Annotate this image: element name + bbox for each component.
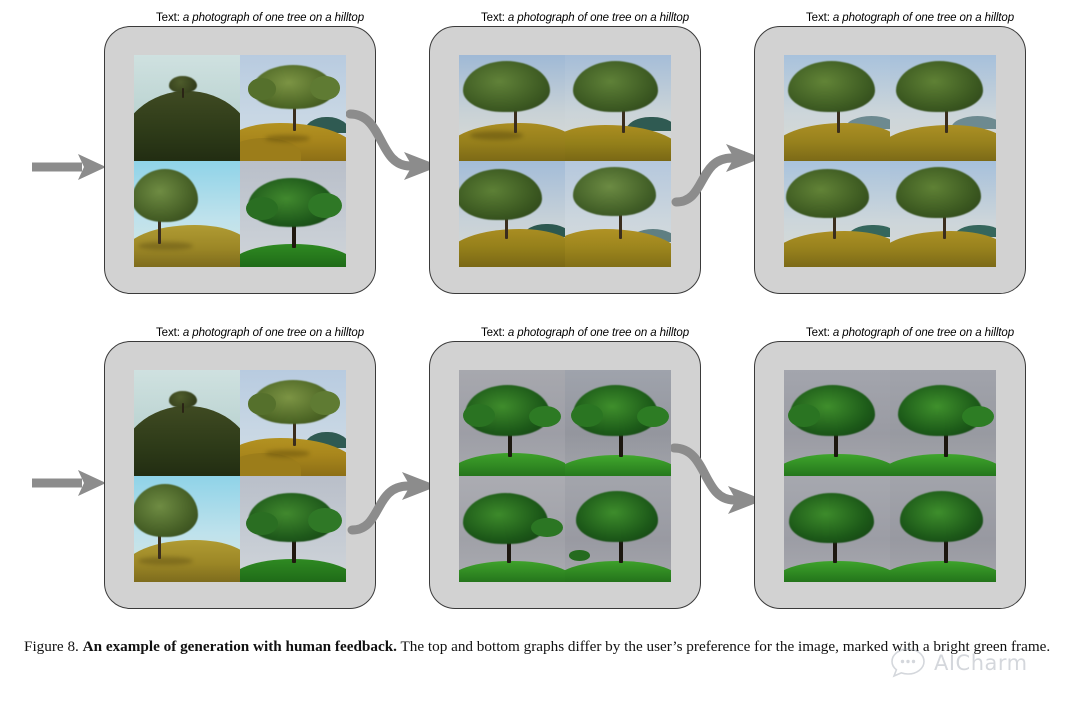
caption-prompt: a photograph of one tree on a hilltop xyxy=(508,12,689,24)
cell-br1-1[interactable] xyxy=(134,370,240,476)
image-grid-top-1 xyxy=(134,55,346,267)
figure-caption-bold: An example of generation with human feed… xyxy=(83,638,397,655)
caption-prompt: a photograph of one tree on a hilltop xyxy=(833,12,1014,24)
panel-caption-top-3: Text: a photograph of one tree on a hill… xyxy=(760,12,1060,25)
cell-br2-3[interactable] xyxy=(459,476,565,582)
cell-tr1-4[interactable] xyxy=(240,161,346,267)
cell-tr1-3[interactable] xyxy=(134,161,240,267)
panel-caption-bottom-1: Text: a photograph of one tree on a hill… xyxy=(110,327,410,340)
cell-tr2-3[interactable] xyxy=(459,161,565,267)
cell-br1-2[interactable] xyxy=(240,370,346,476)
panel-top-1[interactable] xyxy=(104,26,376,294)
panel-caption-bottom-3: Text: a photograph of one tree on a hill… xyxy=(760,327,1060,340)
image-grid-top-2 xyxy=(459,55,671,267)
cell-tr1-2[interactable] xyxy=(240,55,346,161)
caption-label: Text: xyxy=(481,12,505,24)
image-grid-top-3 xyxy=(784,55,996,267)
figure-caption-text: The top and bottom graphs differ by the … xyxy=(400,638,1050,655)
cell-tr3-3[interactable] xyxy=(784,161,890,267)
cell-tr2-1[interactable] xyxy=(459,55,565,161)
caption-label: Text: xyxy=(481,327,505,339)
figure-number: Figure 8. xyxy=(24,638,79,655)
panel-caption-top-2: Text: a photograph of one tree on a hill… xyxy=(435,12,735,25)
caption-label: Text: xyxy=(806,327,830,339)
caption-prompt: a photograph of one tree on a hilltop xyxy=(183,327,364,339)
cell-br3-1[interactable] xyxy=(784,370,890,476)
panel-caption-top-1: Text: a photograph of one tree on a hill… xyxy=(110,12,410,25)
caption-label: Text: xyxy=(806,12,830,24)
caption-prompt: a photograph of one tree on a hilltop xyxy=(508,327,689,339)
cell-tr2-4[interactable] xyxy=(565,161,671,267)
cell-tr1-1[interactable] xyxy=(134,55,240,161)
panel-bottom-3[interactable] xyxy=(754,341,1026,609)
image-grid-bottom-3 xyxy=(784,370,996,582)
cell-br2-1[interactable] xyxy=(459,370,565,476)
cell-br3-4[interactable] xyxy=(890,476,996,582)
panel-caption-bottom-2: Text: a photograph of one tree on a hill… xyxy=(435,327,735,340)
panel-bottom-2[interactable] xyxy=(429,341,701,609)
cell-tr3-2[interactable] xyxy=(890,55,996,161)
caption-prompt: a photograph of one tree on a hilltop xyxy=(833,327,1014,339)
cell-tr2-2[interactable] xyxy=(565,55,671,161)
image-grid-bottom-2 xyxy=(459,370,671,582)
input-arrow-top xyxy=(30,150,110,184)
cell-br3-2[interactable] xyxy=(890,370,996,476)
cell-br2-4[interactable] xyxy=(565,476,671,582)
cell-br1-3[interactable] xyxy=(134,476,240,582)
cell-br2-2[interactable] xyxy=(565,370,671,476)
panel-bottom-1[interactable] xyxy=(104,341,376,609)
cell-tr3-1[interactable] xyxy=(784,55,890,161)
figure-caption: Figure 8. An example of generation with … xyxy=(24,636,1058,658)
panel-top-2[interactable] xyxy=(429,26,701,294)
input-arrow-bottom xyxy=(30,466,110,500)
figure-body: Text: a photograph of one tree on a hill… xyxy=(0,0,1080,625)
caption-prompt: a photograph of one tree on a hilltop xyxy=(183,12,364,24)
caption-label: Text: xyxy=(156,327,180,339)
panel-top-3[interactable] xyxy=(754,26,1026,294)
cell-br3-3[interactable] xyxy=(784,476,890,582)
cell-tr3-4[interactable] xyxy=(890,161,996,267)
cell-br1-4[interactable] xyxy=(240,476,346,582)
image-grid-bottom-1 xyxy=(134,370,346,582)
caption-label: Text: xyxy=(156,12,180,24)
